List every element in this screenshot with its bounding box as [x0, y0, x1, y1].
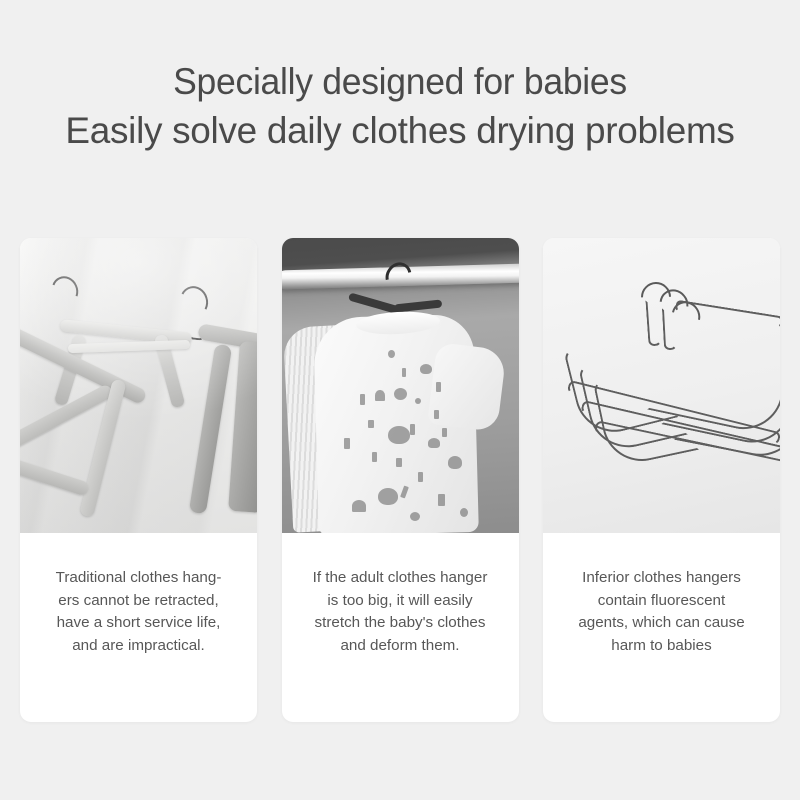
headline: Specially designed for babies Easily sol…	[0, 58, 800, 154]
wooden-hanger-shape	[54, 334, 87, 407]
card-caption: Inferior clothes hangers contain fluores…	[543, 533, 780, 722]
garment-print-motif	[368, 420, 374, 428]
garment-print-motif	[434, 410, 439, 419]
feature-card: Inferior clothes hangers contain fluores…	[543, 238, 780, 722]
garment-print-motif	[415, 398, 421, 404]
feature-card-row: Traditional clothes hang- ers cannot be …	[20, 238, 780, 722]
card-caption: If the adult clothes hanger is too big, …	[282, 533, 519, 722]
wooden-hanger-shape	[79, 378, 126, 517]
wooden-hanger-shape	[228, 341, 257, 513]
garment-print-motif	[436, 382, 441, 392]
headline-line-2: Easily solve daily clothes drying proble…	[6, 106, 794, 154]
garment-print-motif	[352, 500, 366, 512]
garment-print-motif	[388, 426, 410, 444]
feature-card: If the adult clothes hanger is too big, …	[282, 238, 519, 722]
garment-print-motif	[410, 512, 420, 521]
product-infographic: Specially designed for babies Easily sol…	[0, 0, 800, 800]
wire-clothes-hangers-photo	[543, 238, 780, 533]
garment-print-motif	[388, 350, 395, 358]
wooden-hanger-shape	[197, 323, 257, 353]
garment-print-motif	[375, 390, 385, 401]
garment-print-motif	[394, 388, 407, 400]
wooden-hanger-shape	[68, 340, 190, 353]
wooden-hanger-shape	[189, 344, 232, 515]
garment-print-motif	[360, 394, 365, 405]
wooden-hanger-shape	[154, 334, 186, 409]
garment-print-motif	[438, 494, 445, 506]
garment-print-motif	[460, 508, 468, 517]
wooden-hanger-shape	[60, 319, 193, 345]
hanger-hook-icon	[47, 272, 83, 309]
wooden-hanger-shape	[20, 454, 90, 497]
wooden-hanger-shape	[20, 383, 114, 451]
hanger-hook-icon	[189, 303, 207, 340]
garment-print-motif	[410, 424, 415, 435]
garment-print-motif	[378, 488, 398, 505]
wooden-hanger-shape	[20, 326, 148, 405]
caption-text: Inferior clothes hangers contain fluores…	[578, 567, 744, 657]
card-caption: Traditional clothes hang- ers cannot be …	[20, 533, 257, 722]
hanger-hook-icon	[176, 283, 211, 321]
garment-print-motif	[418, 472, 423, 482]
caption-text: Traditional clothes hang- ers cannot be …	[56, 567, 222, 657]
garment-print-motif	[420, 364, 432, 374]
garment-print-motif	[448, 456, 462, 469]
garment-print-motif	[344, 438, 350, 449]
headline-line-1: Specially designed for babies	[16, 58, 784, 106]
garment-print-motif	[442, 428, 447, 437]
feature-card: Traditional clothes hang- ers cannot be …	[20, 238, 257, 722]
garment-print-motif	[372, 452, 377, 462]
garment-print-motif	[428, 438, 440, 448]
baby-garment-on-hanger-photo	[282, 238, 519, 533]
hanger-hook-icon	[60, 292, 78, 331]
garment-print-motif	[396, 458, 402, 467]
wooden-clothes-hangers-photo	[20, 238, 257, 533]
garment-print-motif	[402, 368, 406, 377]
caption-text: If the adult clothes hanger is too big, …	[313, 567, 488, 657]
